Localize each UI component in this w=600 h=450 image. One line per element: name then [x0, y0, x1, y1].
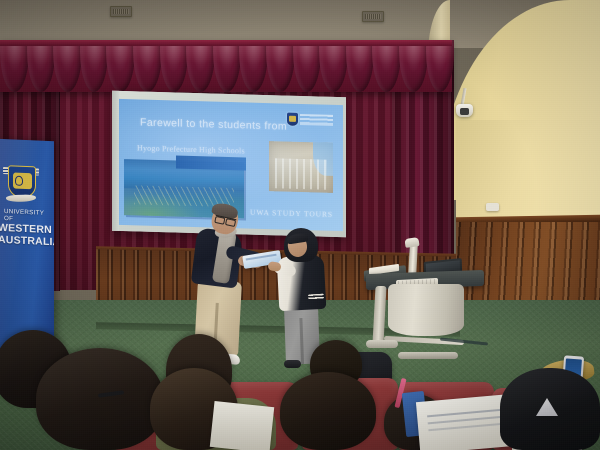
lectern-body [388, 284, 464, 336]
slide-title: Farewell to the students from [140, 117, 287, 133]
swan-icon [15, 176, 23, 186]
wall-mounted-camera-icon [456, 104, 473, 117]
document-camera-icon [404, 237, 419, 248]
curtain-swag [186, 40, 215, 92]
curtain-rail [0, 40, 452, 46]
uwa-wordmark [300, 114, 333, 126]
curtain-swag [426, 40, 455, 92]
curtain-swag [319, 40, 348, 92]
curtain-swag [0, 40, 29, 92]
banner-text-block: UNIVERSITY OF WESTERN AUSTRALIA [0, 209, 54, 249]
ceiling-vent-icon [362, 11, 384, 22]
wall-sensor-icon [486, 203, 499, 211]
uwa-crest-icon [287, 113, 298, 126]
curtain-swag [399, 40, 428, 92]
ceiling-vent-icon [110, 6, 132, 17]
audience-member-foreground [280, 372, 376, 450]
audience-member-with-glasses [36, 348, 164, 450]
slide-caption: UWA STUDY TOURS [250, 208, 333, 219]
student-shoe [284, 360, 301, 368]
lectern-foot [366, 340, 398, 348]
curtain-swag [53, 40, 82, 92]
uwa-logo-icon [287, 112, 333, 128]
curtain-swag [27, 40, 56, 92]
uwa-crest-icon [4, 161, 38, 202]
curtain-swag [293, 40, 322, 92]
curtain-swag [266, 40, 295, 92]
curtain-swag [239, 40, 268, 92]
stage-valance-curtain [0, 40, 452, 92]
curtain-swag [160, 40, 189, 92]
curtain-swag [106, 40, 135, 92]
curtain-swag [346, 40, 375, 92]
valance-swags [0, 40, 452, 92]
slide-subtitle: Hyogo Prefecture High Schools [137, 143, 245, 155]
auditorium-presentation-photo: Farewell to the students from Hyogo Pref… [0, 0, 600, 450]
printed-programme [210, 401, 274, 450]
lectern-foot [398, 352, 458, 359]
slide-image-building [269, 141, 333, 193]
curtain-swag [372, 40, 401, 92]
curtain-swag [80, 40, 109, 92]
banner-line-3: AUSTRALIA [0, 234, 54, 248]
right-wall-lower-cream [456, 120, 600, 230]
ribbon-icon [6, 194, 36, 202]
curtain-swag [133, 40, 162, 92]
slide-image-accent-bar [176, 156, 246, 171]
jacket-stripe-trim [308, 294, 324, 300]
screen-frame-edge [112, 91, 119, 231]
curtain-swag [213, 40, 242, 92]
